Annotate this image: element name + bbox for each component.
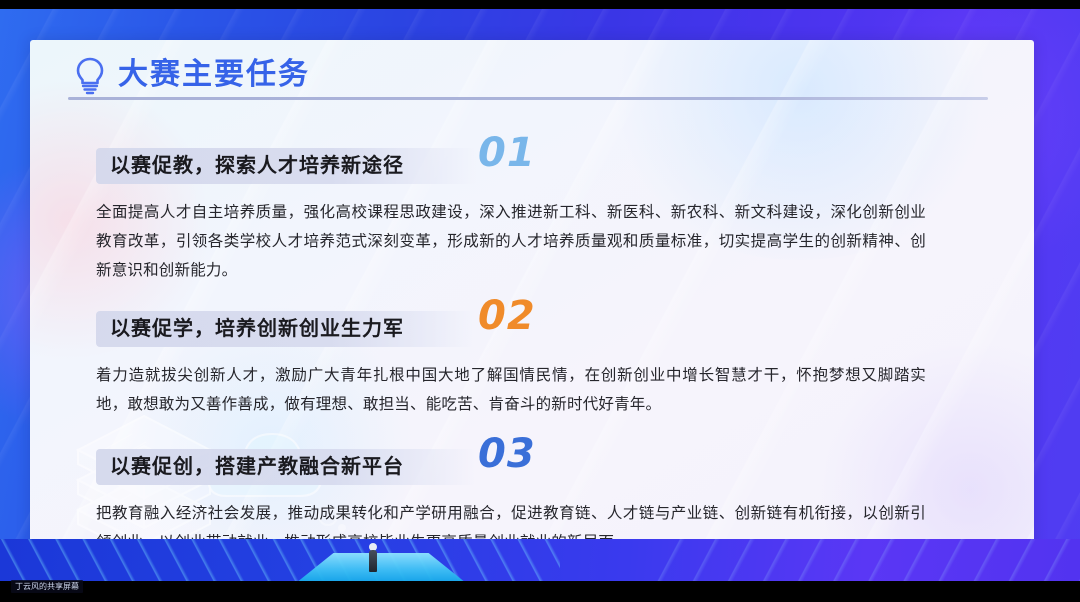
task-section-number: 01 (478, 130, 536, 176)
task-section-body: 着力造就拔尖创新人才，激励广大青年扎根中国大地了解国情民情，在创新创业中增长智慧… (96, 361, 926, 419)
lightbulb-icon (72, 56, 108, 96)
task-section: 以赛促学，培养创新创业生力军 02 着力造就拔尖创新人才，激励广大青年扎根中国大… (30, 311, 1034, 419)
screen-share-label: 丁云风的共享屏幕 (11, 580, 83, 593)
slide-card: 大赛主要任务 以赛促教，探索人才培养新途径 01 全面提高人才自主培养质量，强化… (30, 40, 1034, 568)
slide-header: 大赛主要任务 (30, 40, 1034, 108)
page-title: 大赛主要任务 (118, 55, 310, 95)
task-section-header: 以赛促创，搭建产教融合新平台 03 (96, 449, 736, 485)
slide-frame: 大赛主要任务 以赛促教，探索人才培养新途径 01 全面提高人才自主培养质量，强化… (0, 9, 1080, 581)
task-section-body: 全面提高人才自主培养质量，强化高校课程思政建设，深入推进新工科、新医科、新农科、… (96, 198, 926, 285)
task-section-header: 以赛促教，探索人才培养新途径 01 (96, 148, 736, 184)
tech-line-decoration-left (0, 539, 560, 581)
person-silhouette-decoration (367, 543, 379, 573)
task-section-number: 02 (478, 293, 536, 339)
slide-bottom-decoration (0, 539, 1080, 581)
task-section-number: 03 (478, 431, 536, 477)
task-section: 以赛促教，探索人才培养新途径 01 全面提高人才自主培养质量，强化高校课程思政建… (30, 148, 1034, 285)
task-section-heading: 以赛促创，搭建产教融合新平台 (110, 449, 404, 485)
task-section-heading: 以赛促学，培养创新创业生力军 (110, 311, 404, 347)
task-section-header: 以赛促学，培养创新创业生力军 02 (96, 311, 736, 347)
task-sections: 以赛促教，探索人才培养新途径 01 全面提高人才自主培养质量，强化高校课程思政建… (30, 148, 1034, 557)
title-divider (68, 97, 988, 100)
screen-share-viewport: 大赛主要任务 以赛促教，探索人才培养新途径 01 全面提高人才自主培养质量，强化… (0, 0, 1080, 602)
task-section-heading: 以赛促教，探索人才培养新途径 (110, 148, 404, 184)
tech-line-decoration-right (650, 539, 1080, 581)
